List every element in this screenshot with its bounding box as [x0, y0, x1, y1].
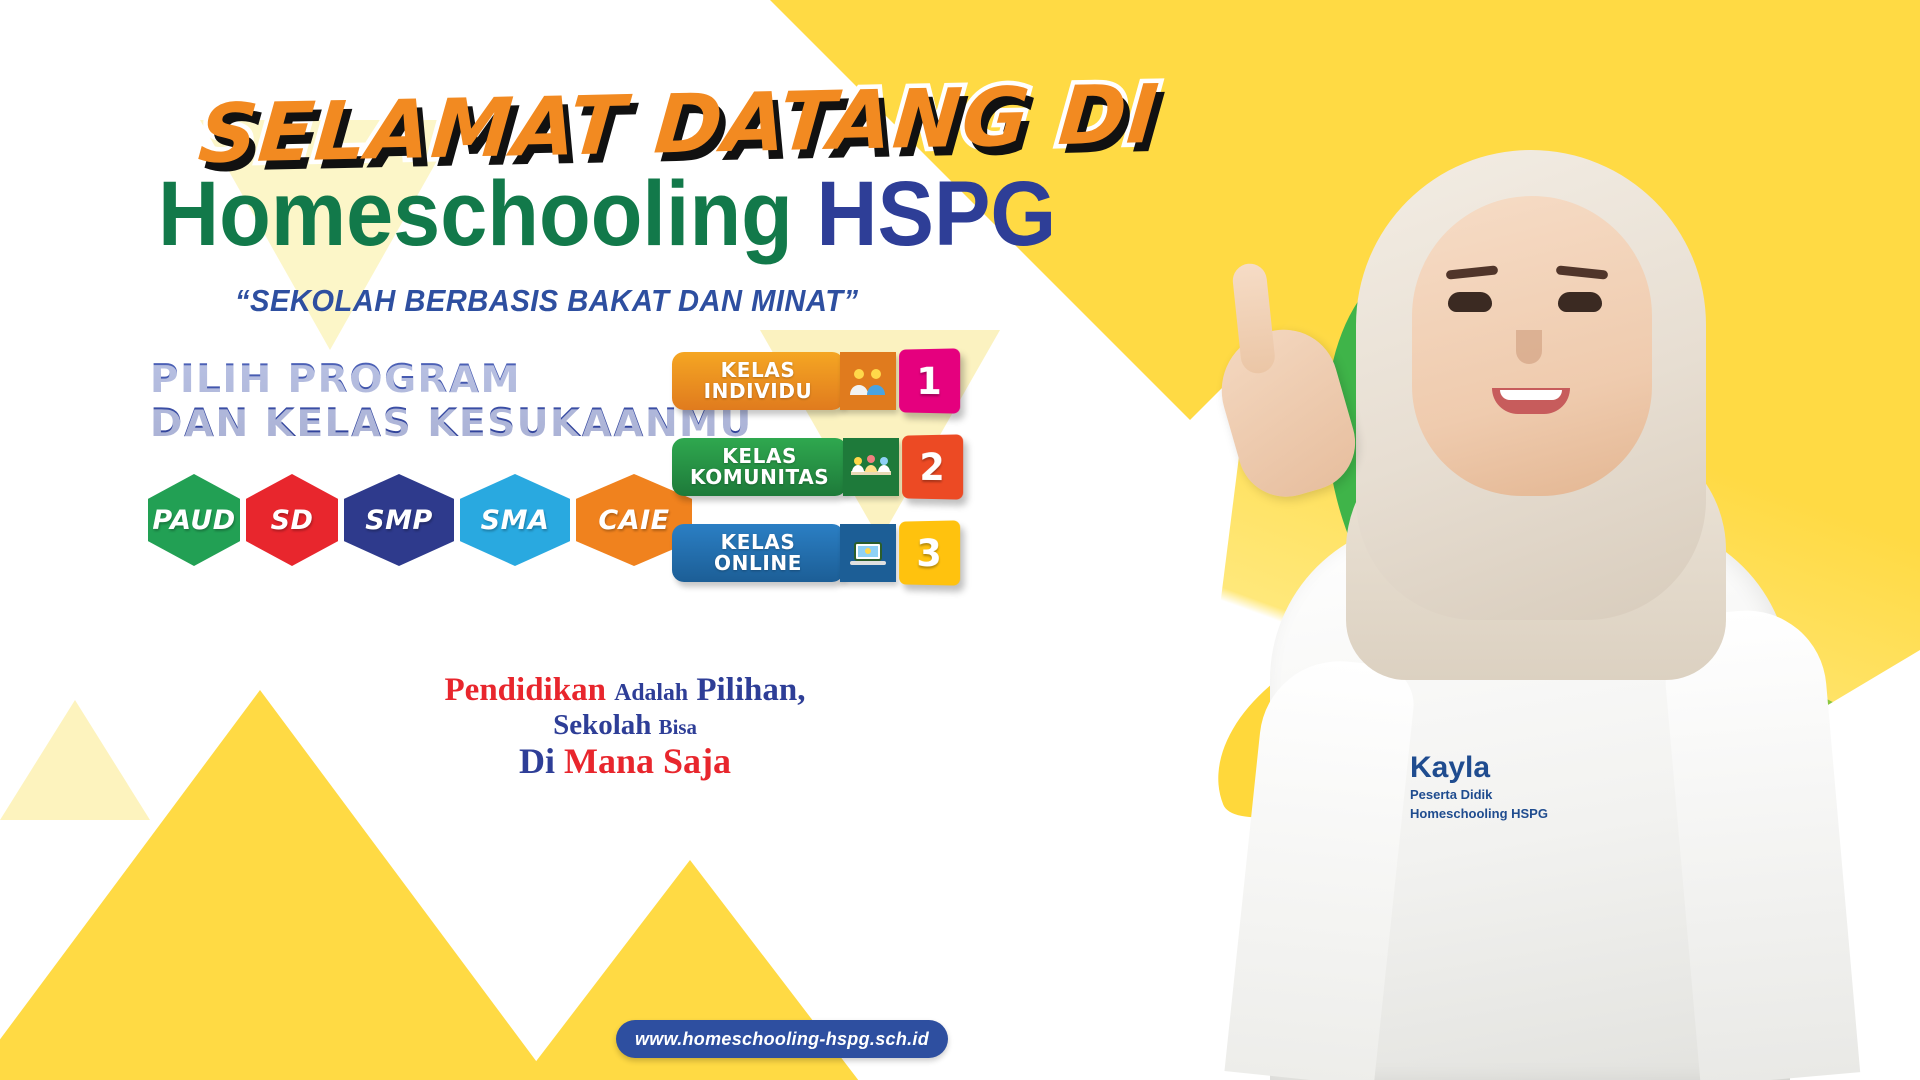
class-label-individu: KELAS INDIVIDU [672, 352, 844, 410]
class-number-1: 1 [899, 348, 960, 413]
motto-word-mana-saja: Mana Saja [564, 741, 731, 781]
program-badge-label: SMP [365, 505, 433, 536]
student-role-line2: Homeschooling HSPG [1410, 806, 1548, 822]
student-nose [1516, 330, 1542, 364]
student-eye-left [1448, 292, 1492, 312]
program-badge-label: PAUD [152, 505, 235, 536]
program-prompt: PILIH PROGRAM DAN KELAS KESUKAANMU [150, 358, 753, 446]
student-caption: Kayla Peserta Didik Homeschooling HSPG [1410, 752, 1548, 822]
pale-yellow-triangle-bottom-left [0, 700, 150, 820]
student-index-finger [1231, 262, 1276, 375]
program-badges: PAUD SD SMP SMA CAIE [148, 474, 692, 566]
class-number-3: 3 [899, 520, 960, 585]
tagline: “SEKOLAH BERBASIS BAKAT DAN MINAT” [235, 283, 859, 319]
class-options: KELAS INDIVIDU 1 KELAS KOMUNITAS [672, 352, 963, 610]
headline-brand: Homeschooling HSPG [158, 168, 1056, 260]
motto-line-2: Sekolah Bisa [390, 709, 860, 741]
student-eye-right [1558, 292, 1602, 312]
class-label-komunitas: KELAS KOMUNITAS [672, 438, 847, 496]
program-badge-label: CAIE [598, 505, 669, 536]
motto-line-3: Di Mana Saja [390, 741, 860, 781]
website-url[interactable]: www.homeschooling-hspg.sch.id [616, 1020, 948, 1058]
motto: Pendidikan Adalah Pilihan, Sekolah Bisa … [390, 672, 860, 782]
motto-word-bisa: Bisa [659, 715, 697, 739]
class-option-online[interactable]: KELAS ONLINE 3 [672, 524, 963, 582]
class-option-individu[interactable]: KELAS INDIVIDU 1 [672, 352, 963, 410]
student-name: Kayla [1410, 752, 1548, 784]
program-badge-paud[interactable]: PAUD [148, 474, 240, 566]
program-badge-smp[interactable]: SMP [344, 474, 454, 566]
motto-word-sekolah: Sekolah [553, 709, 651, 741]
motto-word-di: Di [519, 741, 555, 781]
class-option-komunitas[interactable]: KELAS KOMUNITAS 2 [672, 438, 963, 496]
brand-homeschooling: Homeschooling [158, 163, 793, 265]
brand-hspg: HSPG [816, 163, 1056, 265]
motto-word-pilihan: Pilihan, [696, 672, 805, 708]
motto-word-adalah: Adalah [614, 680, 688, 706]
class-label-online: KELAS ONLINE [672, 524, 844, 582]
program-badge-sd[interactable]: SD [246, 474, 338, 566]
class-number-2: 2 [902, 434, 963, 499]
program-badge-label: SMA [481, 505, 550, 536]
motto-word-pendidikan: Pendidikan [445, 672, 606, 708]
promo-banner: Kayla Peserta Didik Homeschooling HSPG S… [0, 0, 1920, 1080]
program-badge-label: SD [271, 505, 314, 536]
group-study-icon [843, 438, 899, 496]
student-pointing-hand [1208, 317, 1367, 508]
student-role-line1: Peserta Didik [1410, 787, 1548, 803]
student-photo: Kayla Peserta Didik Homeschooling HSPG [1160, 0, 1920, 1080]
program-badge-sma[interactable]: SMA [460, 474, 570, 566]
motto-line-1: Pendidikan Adalah Pilihan, [390, 672, 860, 709]
laptop-icon [840, 524, 896, 582]
people-icon [840, 352, 896, 410]
